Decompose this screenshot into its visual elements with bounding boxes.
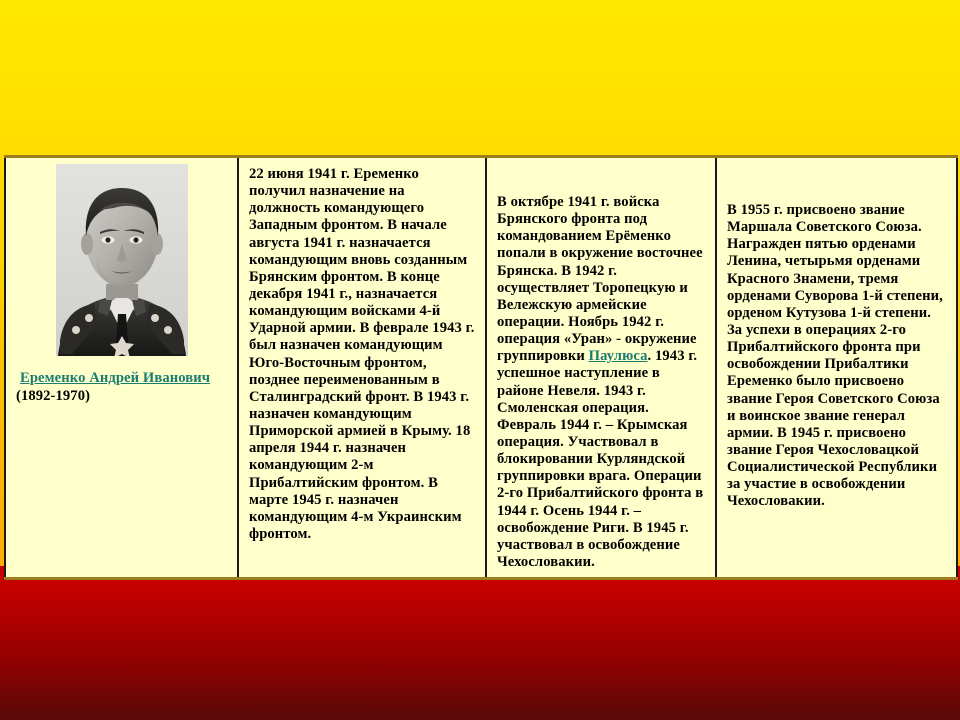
portrait-photo [56, 164, 188, 356]
portrait-cell: Еременко Андрей Иванович (1892-1970) [5, 157, 238, 579]
operations-text-before: В октябре 1941 г. войска Брянского фронт… [497, 194, 703, 364]
operations-text-after: . 1943 г. успешное наступление в районе … [497, 348, 703, 570]
person-life-years: (1892-1970) [16, 388, 90, 404]
operations-text: В октябре 1941 г. войска Брянского фронт… [497, 164, 705, 571]
table-row: Еременко Андрей Иванович (1892-1970) 22 … [5, 157, 957, 579]
slide-canvas: Еременко Андрей Иванович (1892-1970) 22 … [0, 0, 960, 720]
appointments-cell: 22 июня 1941 г. Еременко получил назначе… [238, 157, 486, 579]
awards-text: В 1955 г. присвоено звание Маршала Совет… [727, 164, 946, 511]
person-caption: Еременко Андрей Иванович (1892-1970) [16, 370, 210, 404]
operations-cell: В октябре 1941 г. войска Брянского фронт… [486, 157, 716, 579]
person-name-link[interactable]: Еременко Андрей Иванович [20, 370, 210, 386]
biography-table: Еременко Андрей Иванович (1892-1970) 22 … [4, 155, 958, 580]
appointments-text: 22 июня 1941 г. Еременко получил назначе… [249, 164, 475, 543]
slide-background-bottom [0, 566, 960, 720]
paulus-link[interactable]: Паулюса [589, 348, 648, 364]
awards-cell: В 1955 г. присвоено звание Маршала Совет… [716, 157, 957, 579]
